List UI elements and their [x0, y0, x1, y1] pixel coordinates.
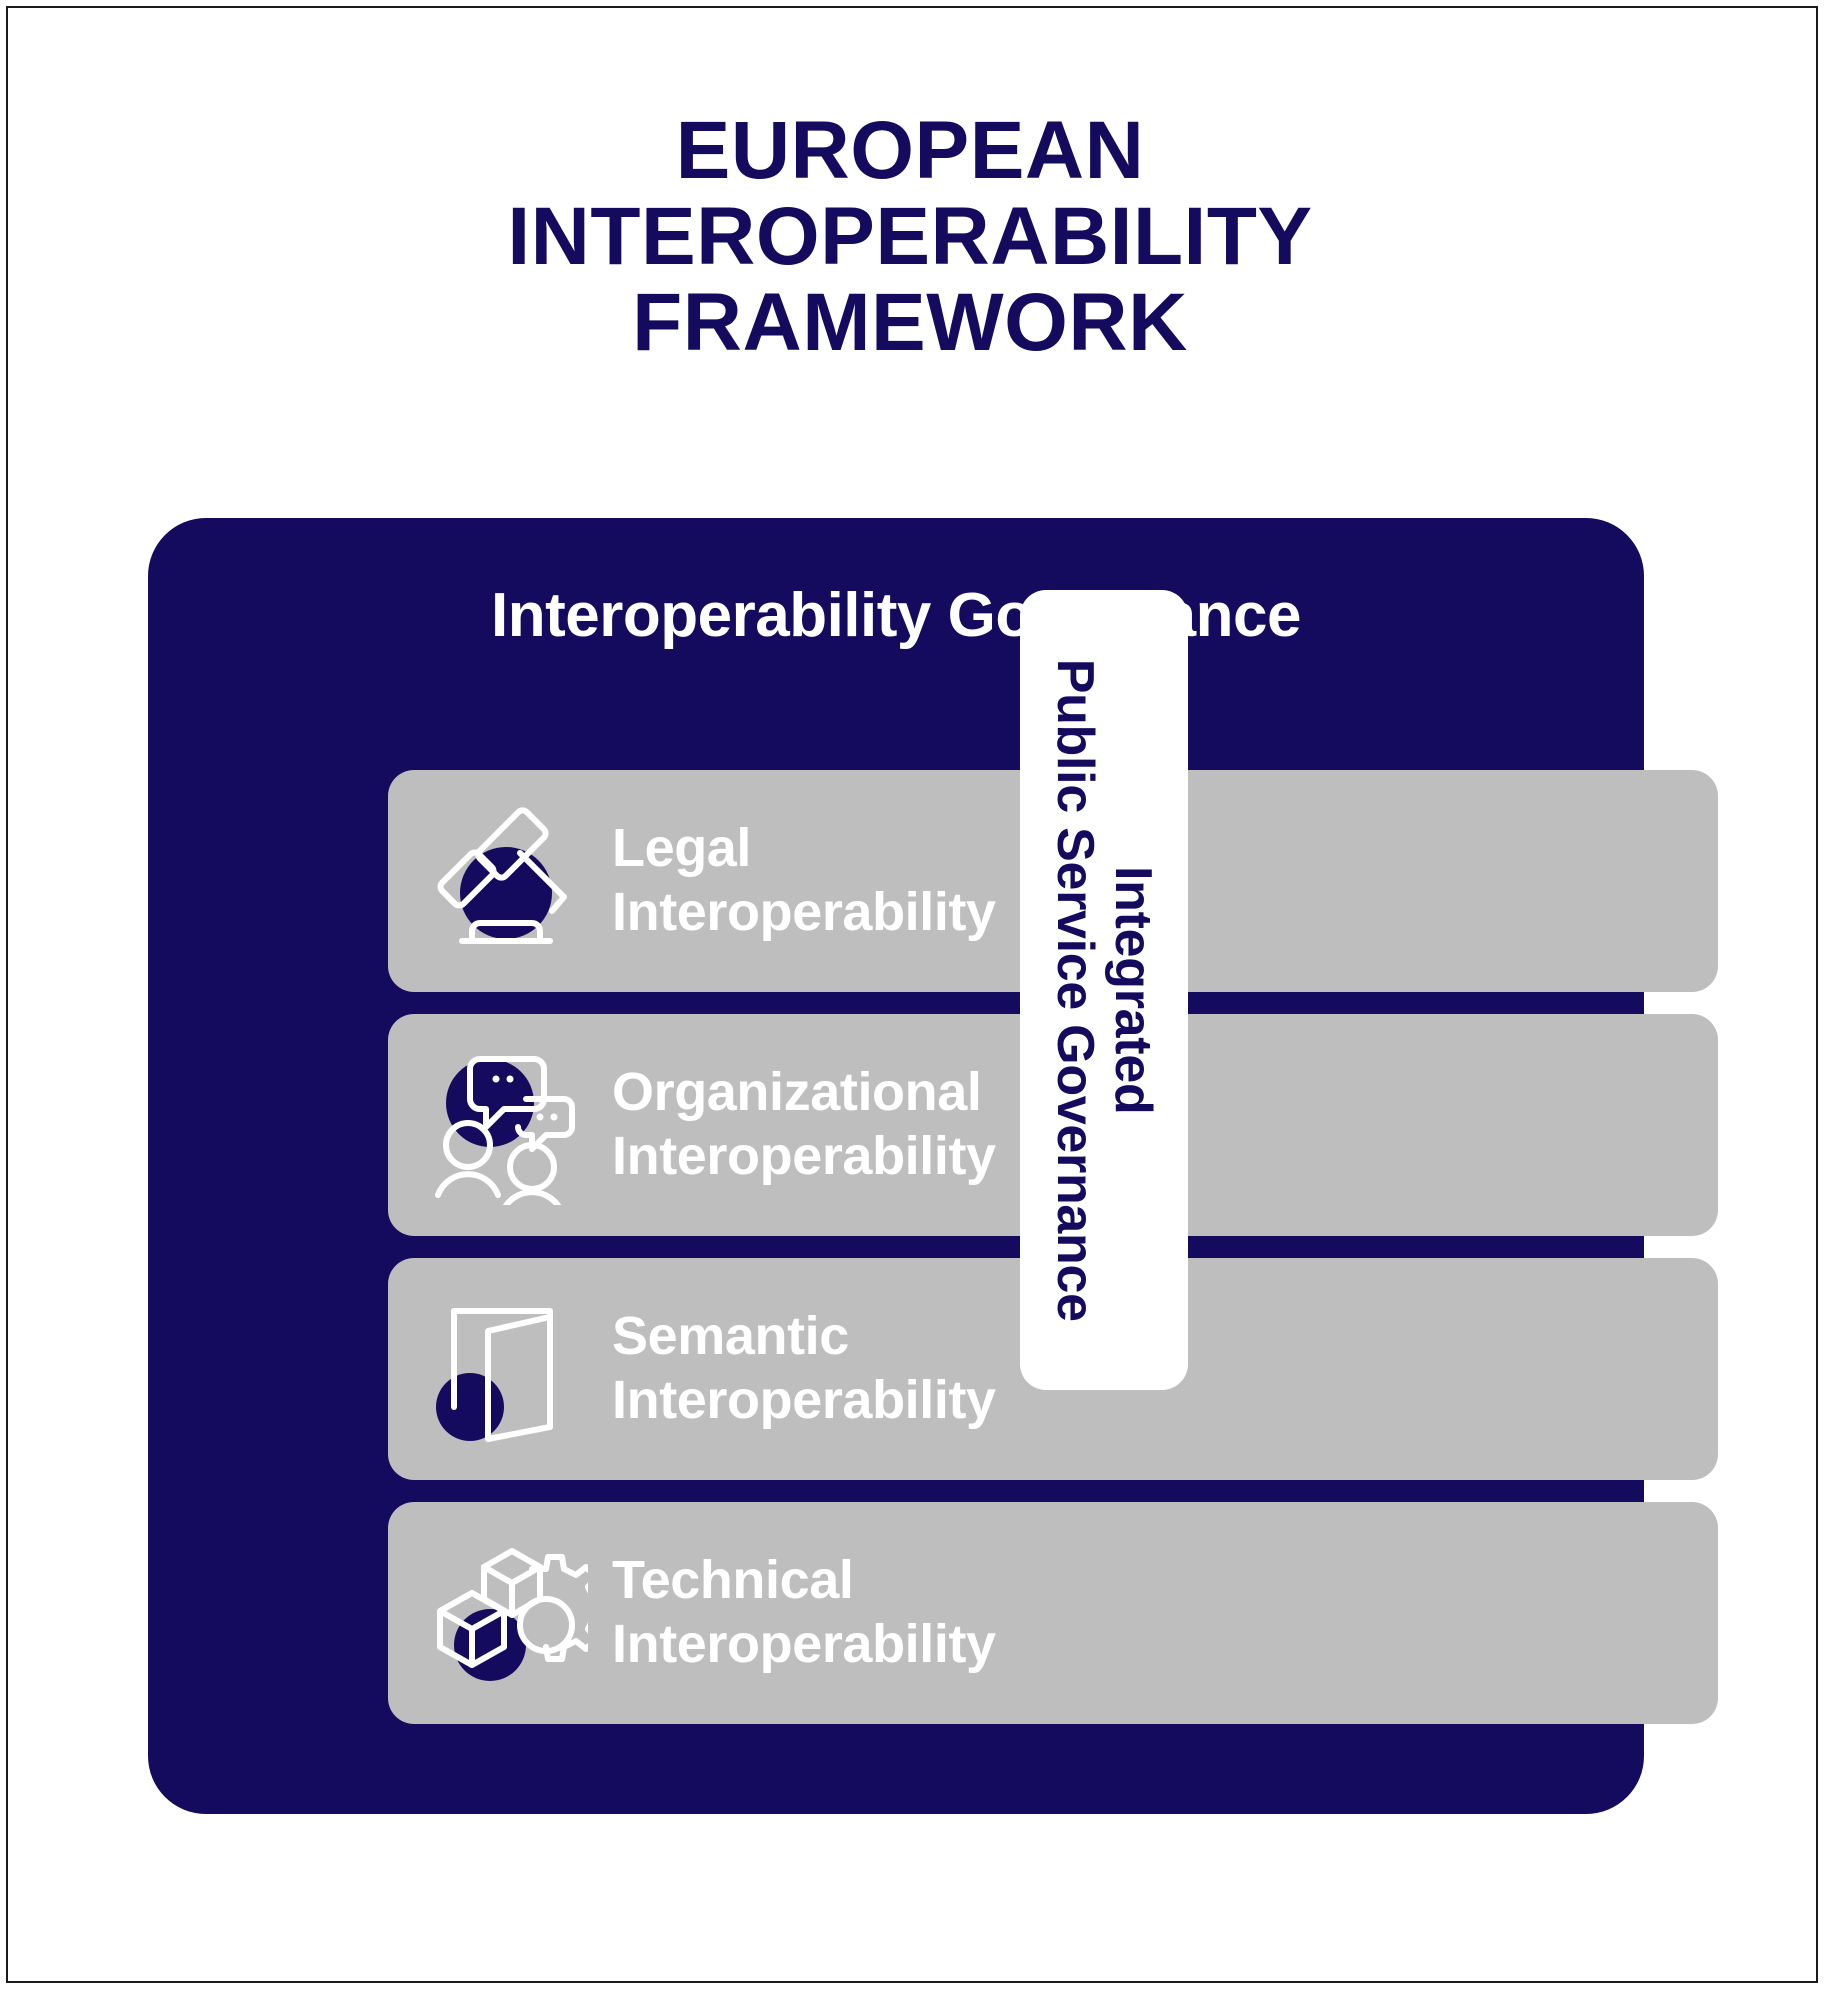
integrated-public-service-governance-panel[interactable]: Integrated Public Service Governance	[1020, 590, 1188, 1390]
layer-label-semantic-line-1: Semantic	[612, 1306, 849, 1366]
ipsg-line-2: Public Service Governance	[1046, 658, 1104, 1321]
layer-row-technical[interactable]: Technical Interoperability	[388, 1502, 1718, 1724]
title-line-1: EUROPEAN	[260, 108, 1560, 194]
title-line-2: INTEROPERABILITY	[260, 194, 1560, 280]
governance-heading: Interoperability Governance	[148, 580, 1644, 651]
layer-label-semantic-line-2: Interoperability	[612, 1369, 996, 1433]
open-book-icon	[428, 1289, 588, 1449]
page-title: EUROPEAN INTEROPERABILITY FRAMEWORK	[260, 108, 1560, 366]
cubes-gear-icon	[428, 1533, 588, 1693]
layer-label-legal: Legal Interoperability	[612, 817, 996, 944]
gavel-icon	[428, 801, 588, 961]
layer-label-organizational: Organizational Interoperability	[612, 1061, 996, 1188]
layer-label-technical-line-2: Interoperability	[612, 1613, 996, 1677]
diagram-canvas: EUROPEAN INTEROPERABILITY FRAMEWORK Inte…	[0, 0, 1824, 1989]
layer-label-technical-line-1: Technical	[612, 1550, 853, 1610]
layer-label-semantic: Semantic Interoperability	[612, 1305, 996, 1432]
ipsg-line-1: Integrated	[1104, 658, 1162, 1321]
conversation-people-icon	[428, 1045, 588, 1205]
layer-label-technical: Technical Interoperability	[612, 1549, 996, 1676]
interoperability-governance-card: Interoperability Governance	[148, 518, 1644, 1814]
integrated-public-service-governance-label: Integrated Public Service Governance	[1046, 658, 1162, 1321]
title-line-3: FRAMEWORK	[260, 280, 1560, 366]
layer-label-organizational-line-2: Interoperability	[612, 1125, 996, 1189]
layer-label-legal-line-2: Interoperability	[612, 881, 996, 945]
layer-label-legal-line-1: Legal	[612, 818, 751, 878]
layer-label-organizational-line-1: Organizational	[612, 1062, 981, 1122]
